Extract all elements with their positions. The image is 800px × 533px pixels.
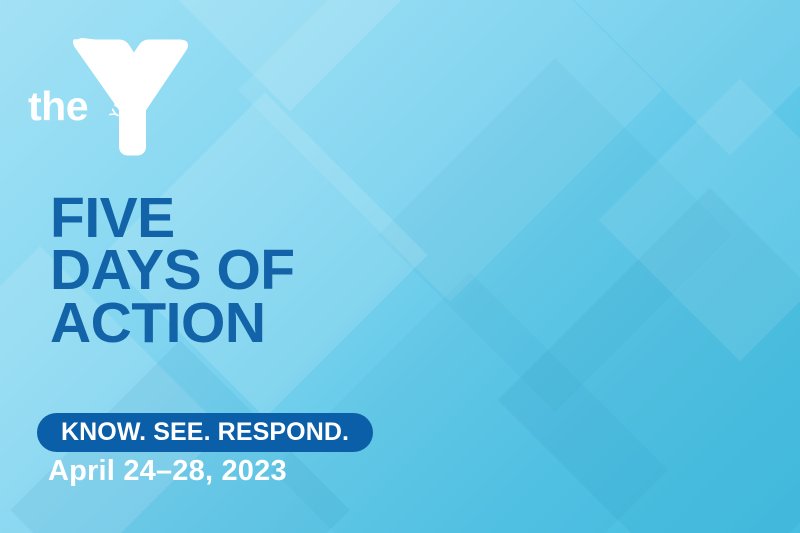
background-diamond-shape <box>238 0 662 302</box>
ymca-logo: the ® YMCA <box>28 34 188 158</box>
headline-line-3: ACTION <box>50 297 295 349</box>
background-diamond-shape <box>498 188 800 533</box>
promotional-banner: the ® YMCA FIVE DAYS OF ACTION KNOW. SEE… <box>0 0 800 533</box>
event-date: April 24–28, 2023 <box>48 456 287 488</box>
background-diamond-shape <box>378 58 732 412</box>
background-diamond-shape <box>599 79 800 362</box>
headline-line-1: FIVE <box>50 192 295 244</box>
tagline-badge: KNOW. SEE. RESPOND. <box>37 413 373 452</box>
registered-trademark-icon: ® <box>165 40 173 51</box>
background-diamond-shape <box>574 0 800 156</box>
headline-line-2: DAYS OF <box>50 244 295 296</box>
tagline-text: KNOW. SEE. RESPOND. <box>61 420 349 445</box>
background-diamond-shape <box>149 0 432 111</box>
background-diamond-shape <box>272 272 668 533</box>
headline: FIVE DAYS OF ACTION <box>50 192 295 349</box>
